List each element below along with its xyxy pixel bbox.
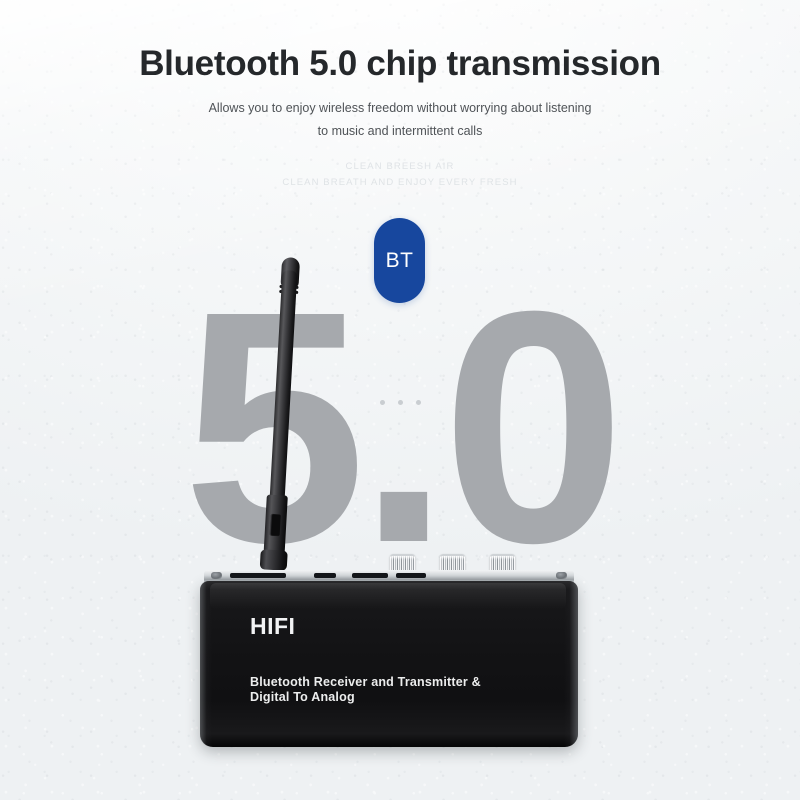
device-screw-left bbox=[211, 572, 222, 579]
version-watermark: 5.0 bbox=[0, 262, 800, 592]
product-description-line-1: Bluetooth Receiver and Transmitter & bbox=[250, 675, 481, 690]
device-port-slot bbox=[230, 573, 286, 578]
subtitle-line-2: to music and intermittent calls bbox=[0, 120, 800, 143]
device-port-slot bbox=[396, 573, 426, 578]
device-left-edge bbox=[200, 581, 212, 747]
device-port-slot bbox=[314, 573, 336, 578]
product-description: Bluetooth Receiver and Transmitter & Dig… bbox=[250, 675, 481, 705]
antenna-base-collar bbox=[260, 549, 288, 570]
product-description-line-2: Digital To Analog bbox=[250, 690, 481, 705]
antenna-notch bbox=[270, 514, 281, 537]
product-device bbox=[200, 570, 578, 747]
ghost-caption-line-2: CLEAN BREATH AND ENJOY EVERY FRESH bbox=[0, 176, 800, 189]
dot-separator bbox=[0, 400, 800, 405]
ghost-caption-line-1: CLEAN BREESH AIR bbox=[0, 160, 800, 173]
device-right-edge bbox=[564, 581, 578, 747]
page-title: Bluetooth 5.0 chip transmission bbox=[0, 44, 800, 84]
product-banner: Bluetooth 5.0 chip transmission Allows y… bbox=[0, 0, 800, 800]
page-subtitle: Allows you to enjoy wireless freedom wit… bbox=[0, 97, 800, 143]
device-gloss-highlight bbox=[210, 583, 566, 609]
product-brand-label: HIFI bbox=[250, 613, 295, 640]
device-screw-right bbox=[556, 572, 567, 579]
dot-icon bbox=[416, 400, 421, 405]
subtitle-line-1: Allows you to enjoy wireless freedom wit… bbox=[0, 97, 800, 120]
device-port-slot bbox=[352, 573, 388, 578]
dot-icon bbox=[380, 400, 385, 405]
dot-icon bbox=[398, 400, 403, 405]
